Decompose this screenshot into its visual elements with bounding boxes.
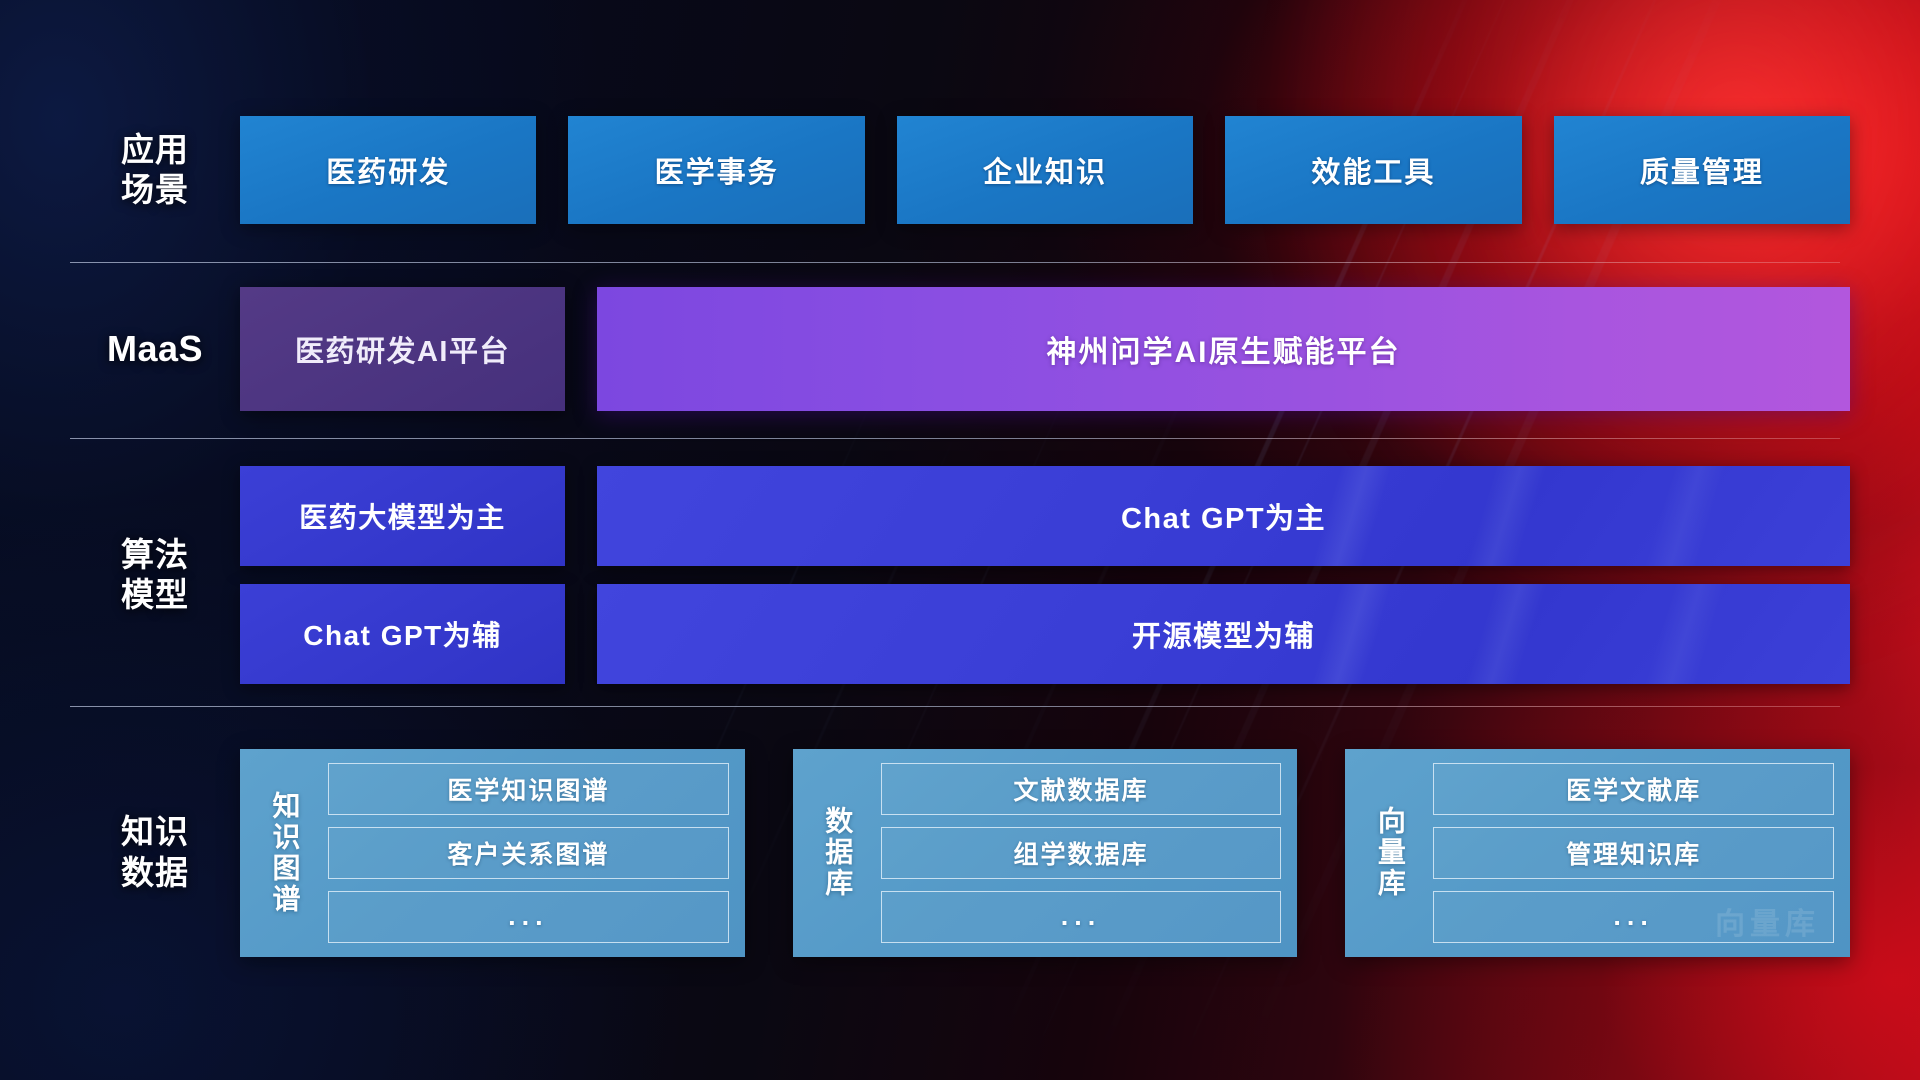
maas-card-pharma-ai-platform[interactable]: 医药研发AI平台 [240, 287, 565, 411]
knowledge-group-database: 数据库 文献数据库 组学数据库 ... [793, 749, 1298, 957]
diagram-stage: 应用 场景 医药研发 医学事务 企业知识 效能工具 质量管理 MaaS 医药研发… [0, 0, 1920, 1080]
knowledge-item-omics-database[interactable]: 组学数据库 [881, 827, 1282, 879]
knowledge-group-vector: 向量库 医学文献库 管理知识库 ... 向量库 [1345, 749, 1850, 957]
divider-algorithms-knowledge [70, 706, 1840, 707]
maas-card-shenzhou-wenxue-platform[interactable]: 神州问学AI原生赋能平台 [597, 287, 1850, 411]
row-application-scenarios: 应用 场景 医药研发 医学事务 企业知识 效能工具 质量管理 [70, 110, 1850, 230]
knowledge-group-graph: 知识图谱 医学知识图谱 客户关系图谱 ... [240, 749, 745, 957]
knowledge-groups-container: 知识图谱 医学知识图谱 客户关系图谱 ... 数据库 文献数据库 组学数据库 .… [240, 749, 1850, 957]
knowledge-item-medical-knowledge-graph[interactable]: 医学知识图谱 [328, 763, 729, 815]
app-card-medical-affairs[interactable]: 医学事务 [568, 116, 864, 224]
app-card-enterprise-knowledge[interactable]: 企业知识 [897, 116, 1193, 224]
knowledge-items-graph: 医学知识图谱 客户关系图谱 ... [328, 763, 729, 943]
row-label-applications: 应用 场景 [70, 130, 240, 211]
algorithm-line-primary: 医药大模型为主 Chat GPT为主 [240, 466, 1850, 566]
knowledge-items-database: 文献数据库 组学数据库 ... [881, 763, 1282, 943]
divider-maas-algorithms [70, 438, 1840, 439]
knowledge-items-vector: 医学文献库 管理知识库 ... [1433, 763, 1834, 943]
algorithm-rows-container: 医药大模型为主 Chat GPT为主 Chat GPT为辅 开源模型为辅 [240, 466, 1850, 684]
algo-card-chatgpt-primary[interactable]: Chat GPT为主 [597, 466, 1850, 566]
knowledge-group-label-vector: 向量库 [1361, 763, 1419, 943]
row-label-maas: MaaS [70, 327, 240, 371]
divider-applications-maas [70, 262, 1840, 263]
algorithm-line-secondary: Chat GPT为辅 开源模型为辅 [240, 584, 1850, 684]
row-knowledge-data: 知识 数据 知识图谱 医学知识图谱 客户关系图谱 ... 数据库 文献数据库 [70, 730, 1850, 975]
row-maas: MaaS 医药研发AI平台 神州问学AI原生赋能平台 [70, 285, 1850, 413]
knowledge-item-graph-more[interactable]: ... [328, 891, 729, 943]
algo-card-pharma-llm-primary[interactable]: 医药大模型为主 [240, 466, 565, 566]
algo-card-opensource-secondary[interactable]: 开源模型为辅 [597, 584, 1850, 684]
app-card-efficiency-tools[interactable]: 效能工具 [1225, 116, 1521, 224]
knowledge-item-vector-more[interactable]: ... [1433, 891, 1834, 943]
knowledge-group-label-graph: 知识图谱 [256, 763, 314, 943]
row-label-knowledge: 知识 数据 [70, 812, 240, 893]
application-cards-container: 医药研发 医学事务 企业知识 效能工具 质量管理 [240, 116, 1850, 224]
knowledge-item-customer-relation-graph[interactable]: 客户关系图谱 [328, 827, 729, 879]
architecture-diagram: 应用 场景 医药研发 医学事务 企业知识 效能工具 质量管理 MaaS 医药研发… [0, 0, 1920, 1080]
knowledge-item-database-more[interactable]: ... [881, 891, 1282, 943]
row-label-algorithms: 算法 模型 [70, 535, 240, 616]
knowledge-item-medical-literature-store[interactable]: 医学文献库 [1433, 763, 1834, 815]
maas-cards-container: 医药研发AI平台 神州问学AI原生赋能平台 [240, 287, 1850, 411]
app-card-quality-management[interactable]: 质量管理 [1554, 116, 1850, 224]
knowledge-item-literature-database[interactable]: 文献数据库 [881, 763, 1282, 815]
row-algorithm-models: 算法 模型 医药大模型为主 Chat GPT为主 Chat GPT为辅 开源模型… [70, 460, 1850, 690]
knowledge-item-management-knowledge-store[interactable]: 管理知识库 [1433, 827, 1834, 879]
knowledge-group-label-database: 数据库 [809, 763, 867, 943]
algo-card-chatgpt-secondary[interactable]: Chat GPT为辅 [240, 584, 565, 684]
app-card-pharma-rnd[interactable]: 医药研发 [240, 116, 536, 224]
